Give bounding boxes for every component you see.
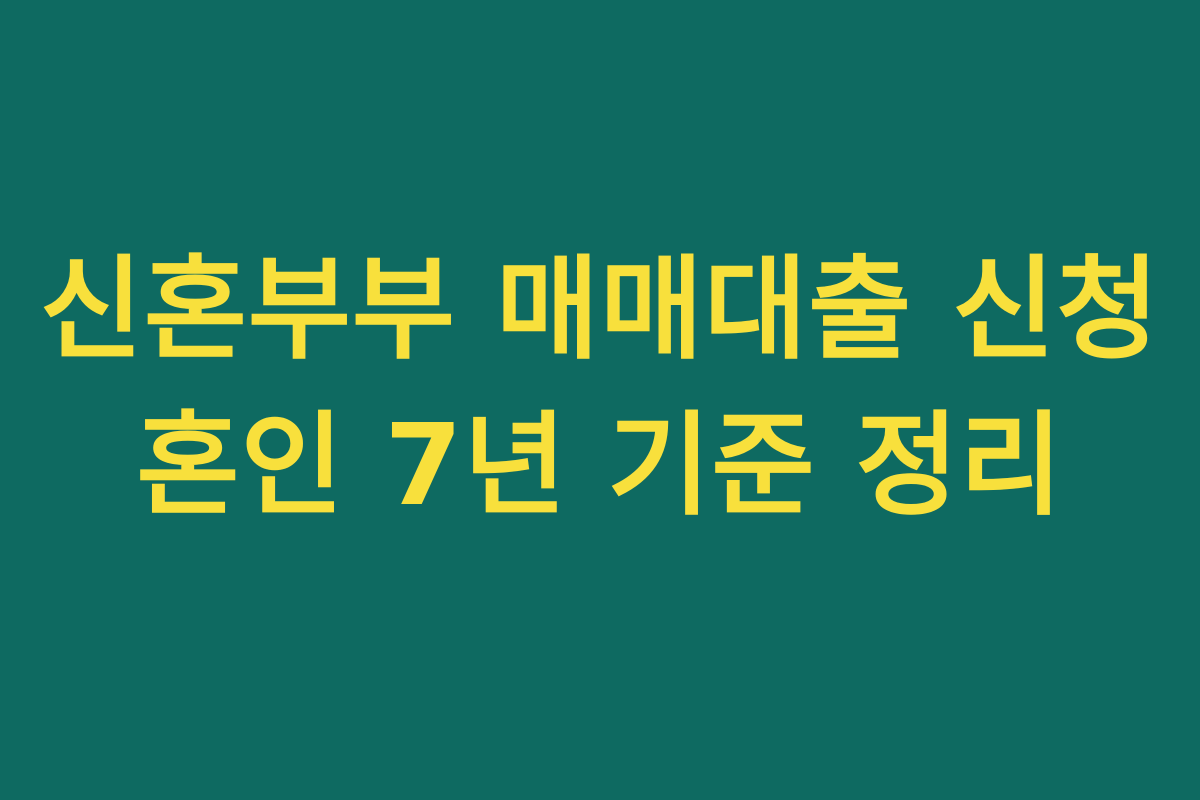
thumbnail-canvas: 신혼부부 매매대출 신청 혼인 7년 기준 정리: [0, 0, 1200, 800]
headline-block: 신혼부부 매매대출 신청 혼인 7년 기준 정리: [0, 254, 1200, 522]
headline-line-2: 혼인 7년 기준 정리: [0, 410, 1200, 522]
headline-line-1: 신혼부부 매매대출 신청: [0, 254, 1200, 366]
